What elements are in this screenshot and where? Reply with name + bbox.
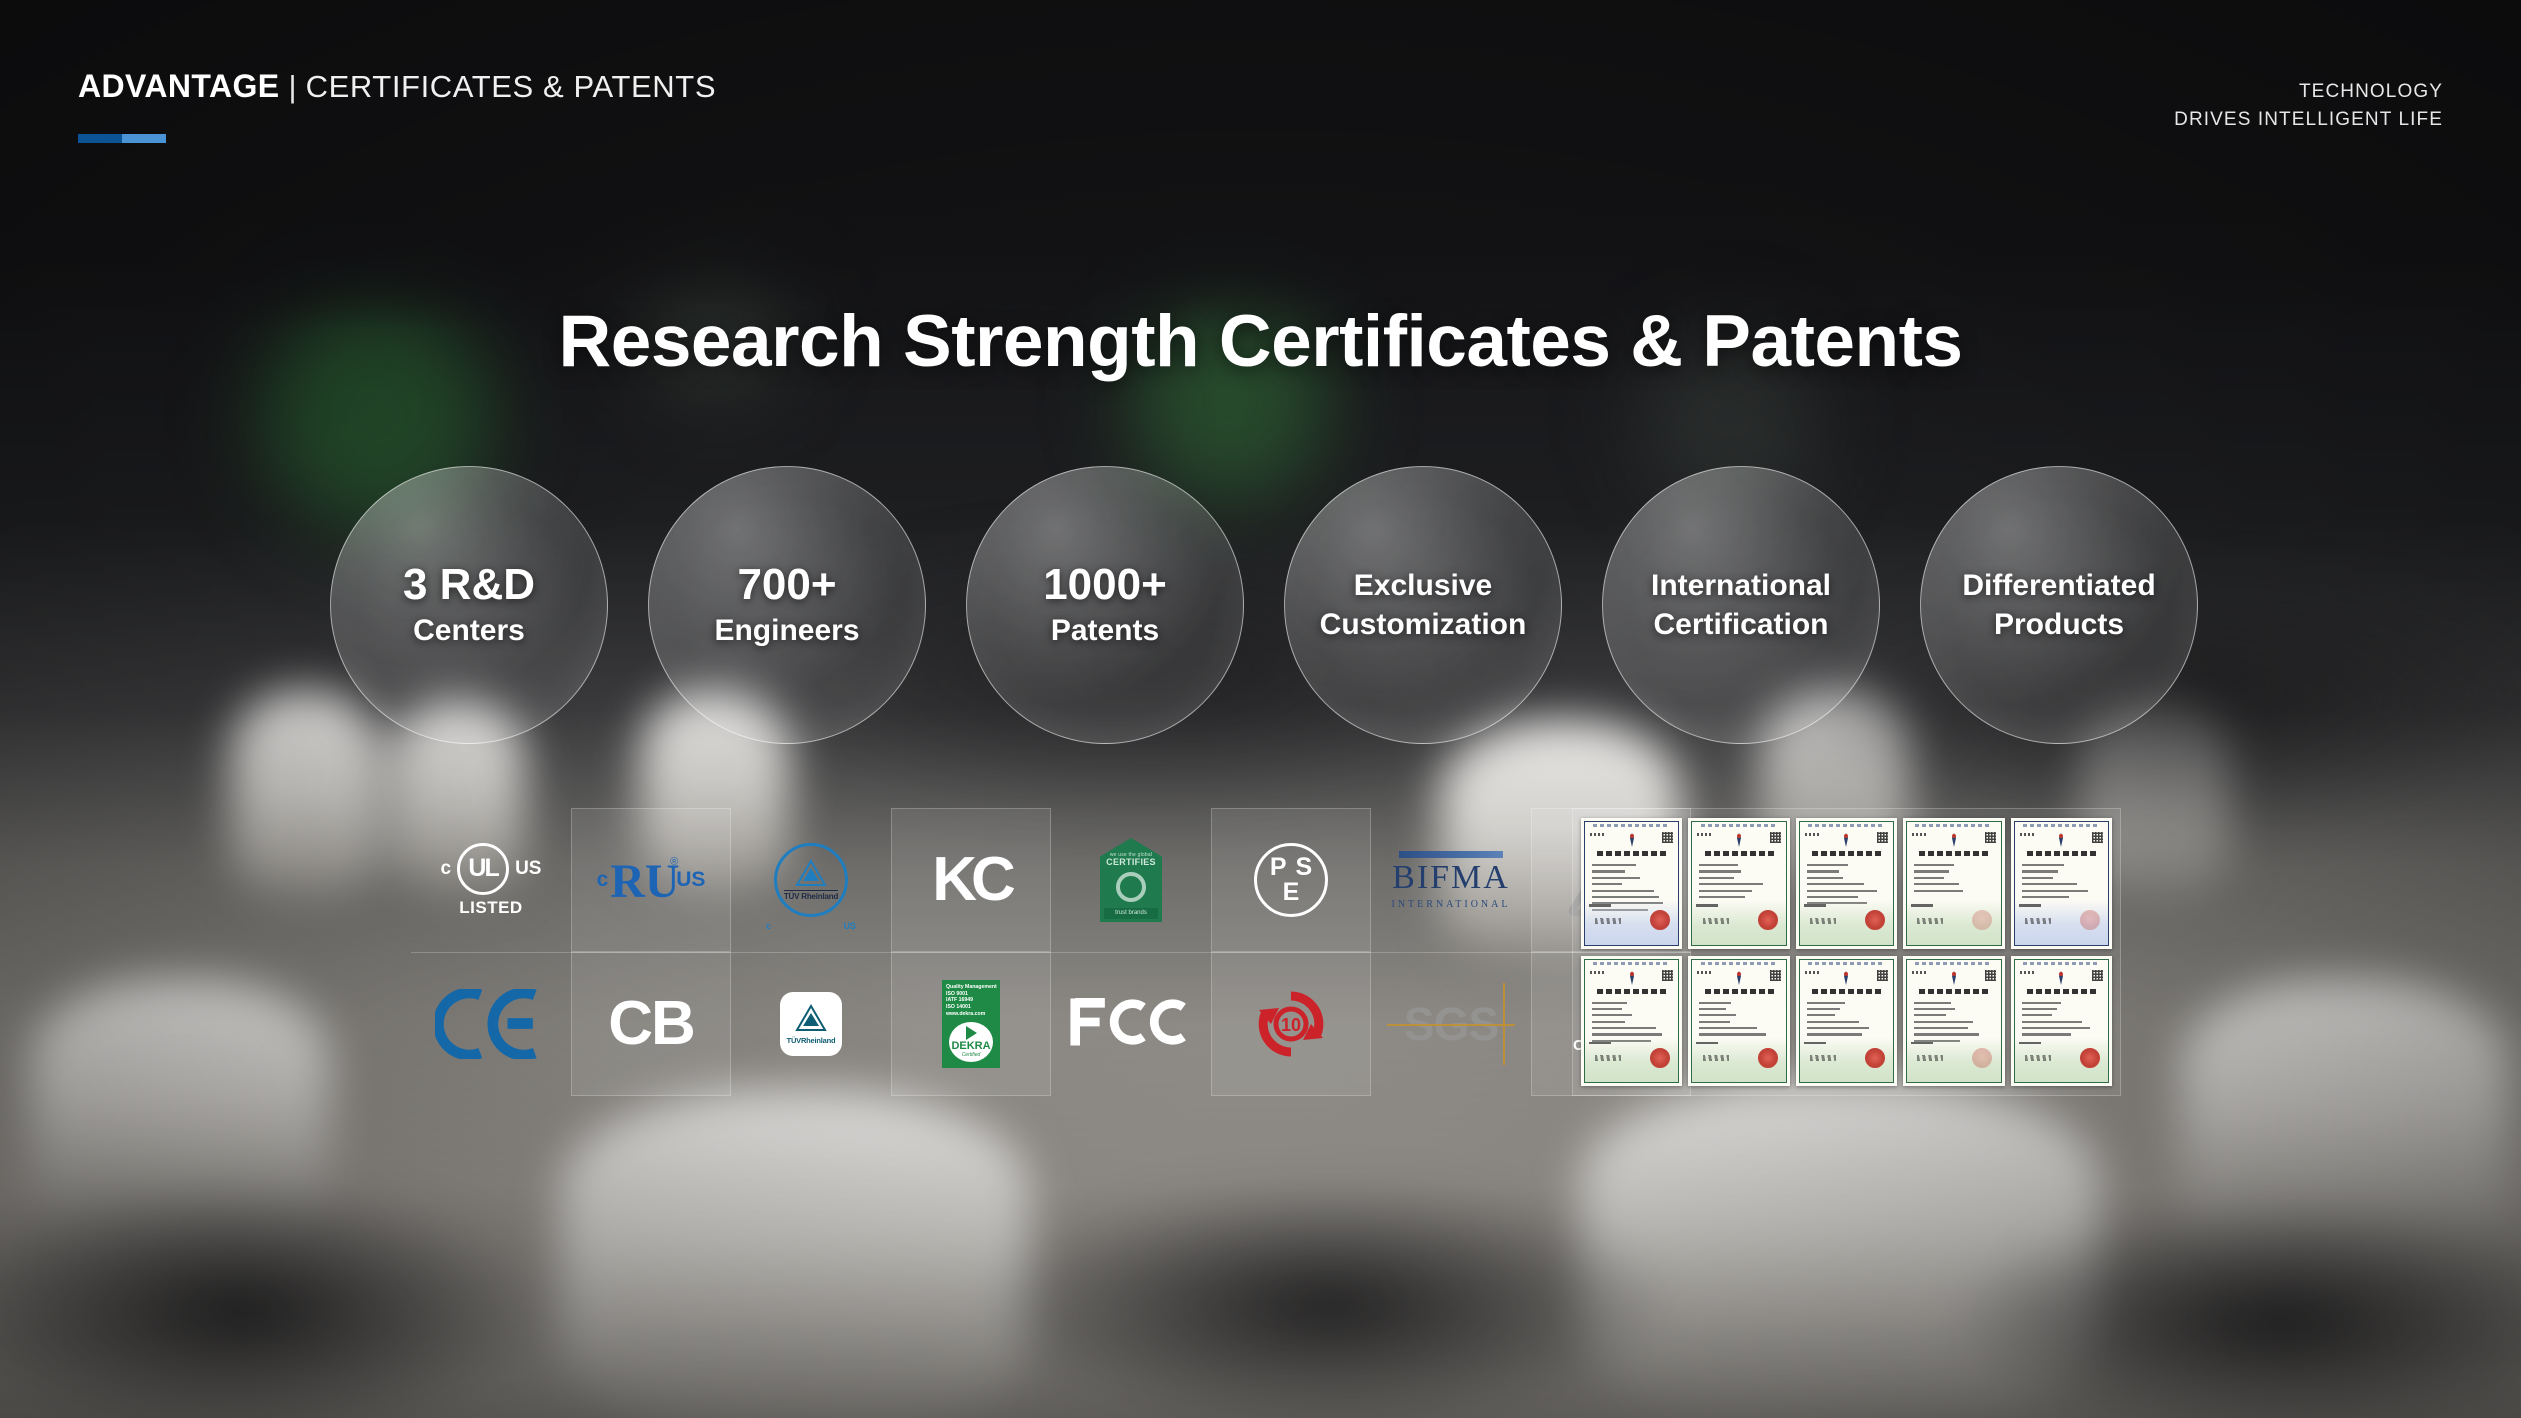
patent-certificate-thumbnail <box>1581 818 1682 949</box>
ru-us-label: US <box>676 868 705 892</box>
patent-emblem-icon <box>1948 970 1960 986</box>
tuv-us-label: US <box>843 921 856 931</box>
patent-seal-icon <box>1758 1048 1778 1068</box>
patent-qr-icon <box>1877 970 1888 981</box>
tagline-line-2: DRIVES INTELLIGENT LIFE <box>2174 106 2443 134</box>
ul-c-label: c <box>441 858 452 880</box>
patent-seal-icon <box>1758 910 1778 930</box>
tuv-label: TÜVRheinland <box>787 1036 836 1045</box>
patent-certificate-thumbnail <box>1796 956 1897 1087</box>
ul-letters: UL <box>468 856 497 881</box>
tuv-c-label: c <box>766 921 771 931</box>
patent-certificate-thumbnail <box>1688 818 1789 949</box>
ce-icon <box>435 989 547 1059</box>
stat-label: Engineers <box>714 614 859 648</box>
accent-bar-dark-segment <box>78 134 122 143</box>
svg-text:10: 10 <box>1281 1015 1301 1035</box>
patent-certificate-thumbnail <box>1581 956 1682 1087</box>
slide-root: ADVANTAGE|CERTIFICATES & PATENTS TECHNOL… <box>0 0 2521 1418</box>
patent-seal-icon <box>2080 910 2100 930</box>
patent-emblem-icon <box>2055 832 2067 848</box>
ul-listed-icon: c UL US LISTED <box>441 843 542 918</box>
patent-emblem-icon <box>1626 832 1638 848</box>
tuv-label: TÜV Rheinland <box>784 890 838 901</box>
patent-qr-icon <box>1770 970 1781 981</box>
cert-logo-ul-recognized: c RU ® US <box>571 808 731 952</box>
patent-certificates-panel <box>1572 808 2121 1096</box>
ul-us-label: US <box>515 858 541 880</box>
patent-emblem-icon <box>1733 970 1745 986</box>
certipur-ring-icon <box>1116 872 1146 902</box>
dekra-triangle-icon <box>966 1026 977 1040</box>
stat-label: Centers <box>413 614 525 648</box>
cert-logo-pse: P S E <box>1211 808 1371 952</box>
stat-circle-rnd-centers: 3 R&D Centers <box>330 466 608 744</box>
patent-certificate-thumbnail <box>1903 956 2004 1087</box>
tuv-rheinland-cus-icon: TÜV Rheinland c US <box>774 843 848 917</box>
patent-seal-icon <box>1865 1048 1885 1068</box>
stat-circle-patents: 1000+ Patents <box>966 466 1244 744</box>
cert-logo-tuv-rheinland: TÜVRheinland <box>731 952 891 1096</box>
patent-qr-icon <box>2092 970 2103 981</box>
patent-seal-icon <box>2080 1048 2100 1068</box>
dekra-certified-label: Certified <box>962 1052 981 1058</box>
tuv-rheinland-icon: TÜVRheinland <box>780 992 842 1056</box>
patent-qr-icon <box>1662 970 1673 981</box>
stat-label-line-1: International <box>1651 566 1831 605</box>
dekra-icon: Quality Management ISO 9001 IATF 16949 I… <box>942 980 1000 1068</box>
patent-certificate-thumbnail <box>2011 818 2112 949</box>
patent-qr-icon <box>1985 970 1996 981</box>
cert-logo-cb: CB <box>571 952 731 1096</box>
cert-logo-bifma: BIFMA INTERNATIONAL <box>1371 808 1531 952</box>
breadcrumb-separator: | <box>289 69 297 104</box>
patent-emblem-icon <box>2055 970 2067 986</box>
sgs-crosshair-vertical <box>1503 983 1505 1065</box>
stat-label-line-2: Customization <box>1320 605 1527 644</box>
patent-emblem-icon <box>1840 832 1852 848</box>
patent-emblem-icon <box>1626 970 1638 986</box>
kc-icon: KC <box>932 849 1010 911</box>
dekra-line-2: ISO 9001 <box>946 991 1000 998</box>
stat-circle-exclusive-customization: Exclusive Customization <box>1284 466 1562 744</box>
stat-label: Patents <box>1051 614 1159 648</box>
china-rohs-icon: 10 <box>1255 988 1327 1060</box>
stat-label-line-1: Exclusive <box>1354 566 1492 605</box>
stat-value: 3 R&D <box>403 563 535 608</box>
stat-label-line-2: Certification <box>1653 605 1828 644</box>
patent-emblem-icon <box>1840 970 1852 986</box>
sgs-crosshair-horizontal <box>1387 1024 1515 1026</box>
patent-emblem-icon <box>1733 832 1745 848</box>
patent-seal-icon <box>1650 1048 1670 1068</box>
dekra-line-5: www.dekra.com <box>946 1011 1000 1018</box>
stat-value: 1000+ <box>1043 563 1167 608</box>
bifma-sublabel: INTERNATIONAL <box>1392 899 1511 910</box>
patent-qr-icon <box>1877 832 1888 843</box>
cb-icon: CB <box>608 993 694 1055</box>
brand-label: ADVANTAGE <box>78 68 280 104</box>
tagline: TECHNOLOGY DRIVES INTELLIGENT LIFE <box>2174 78 2443 133</box>
patent-emblem-icon <box>1948 832 1960 848</box>
patent-certificate-thumbnail <box>1796 818 1897 949</box>
ul-recognized-icon: c RU ® US <box>597 856 706 904</box>
dekra-line-4: ISO 14001 <box>946 1004 1000 1011</box>
grid-row-divider <box>411 952 1691 953</box>
stat-label-line-1: Differentiated <box>1962 566 2155 605</box>
pse-letter-s: S <box>1296 855 1313 880</box>
stat-value: 700+ <box>737 563 836 608</box>
certipur-icon: we use the global CERTIFIES trust brands <box>1100 838 1162 922</box>
cert-logo-certipur: we use the global CERTIFIES trust brands <box>1051 808 1211 952</box>
patent-qr-icon <box>1985 832 1996 843</box>
page-title: Research Strength Certificates & Patents <box>0 300 2521 383</box>
cert-logo-fcc <box>1051 952 1211 1096</box>
patent-certificate-thumbnail <box>1688 956 1789 1087</box>
cert-logo-sgs: SGS <box>1371 952 1531 1096</box>
stat-circle-group: 3 R&D Centers 700+ Engineers 1000+ Paten… <box>330 466 2250 756</box>
cert-logo-kc: KC <box>891 808 1051 952</box>
stat-label-line-2: Products <box>1994 605 2124 644</box>
stat-circle-engineers: 700+ Engineers <box>648 466 926 744</box>
ul-listed-label: LISTED <box>459 898 522 918</box>
tuv-triangle-icon <box>794 1004 828 1034</box>
cert-logo-ul-listed: c UL US LISTED <box>411 808 571 952</box>
section-label: CERTIFICATES & PATENTS <box>306 69 717 104</box>
cert-logo-china-rohs: 10 <box>1211 952 1371 1096</box>
accent-bar-light-segment <box>122 134 166 143</box>
dekra-brand: DEKRA <box>951 1041 990 1052</box>
patent-qr-icon <box>2092 832 2103 843</box>
stat-circle-international-certification: International Certification <box>1602 466 1880 744</box>
bifma-label: BIFMA <box>1392 861 1511 895</box>
bifma-icon: BIFMA INTERNATIONAL <box>1392 851 1511 910</box>
cert-logo-dekra: Quality Management ISO 9001 IATF 16949 I… <box>891 952 1051 1096</box>
tuv-triangle-icon <box>794 859 828 889</box>
tagline-line-1: TECHNOLOGY <box>2174 78 2443 106</box>
cert-logo-ce <box>411 952 571 1096</box>
cert-logo-tuv-rheinland-cus: TÜV Rheinland c US <box>731 808 891 952</box>
pse-letter-p: P <box>1270 855 1287 880</box>
certipur-bottom-text: trust brands <box>1104 908 1158 919</box>
breadcrumb: ADVANTAGE|CERTIFICATES & PATENTS <box>78 68 716 105</box>
patent-qr-icon <box>1662 832 1673 843</box>
patent-qr-icon <box>1770 832 1781 843</box>
bifma-rule <box>1399 851 1503 858</box>
dekra-line-1: Quality Management <box>946 984 1000 991</box>
patent-certificate-thumbnail <box>2011 956 2112 1087</box>
certipur-mid-text: CERTIFIES <box>1106 858 1156 867</box>
fcc-icon <box>1070 991 1192 1058</box>
stat-circle-differentiated-products: Differentiated Products <box>1920 466 2198 744</box>
patent-certificate-thumbnail <box>1903 818 2004 949</box>
pse-letter-e: E <box>1283 880 1300 905</box>
registered-icon: ® <box>670 856 678 868</box>
pse-icon: P S E <box>1254 843 1328 917</box>
sgs-icon: SGS <box>1391 989 1511 1059</box>
ru-c-label: c <box>597 868 609 892</box>
accent-bar <box>78 134 166 143</box>
dekra-line-3: IATF 16949 <box>946 997 1000 1004</box>
